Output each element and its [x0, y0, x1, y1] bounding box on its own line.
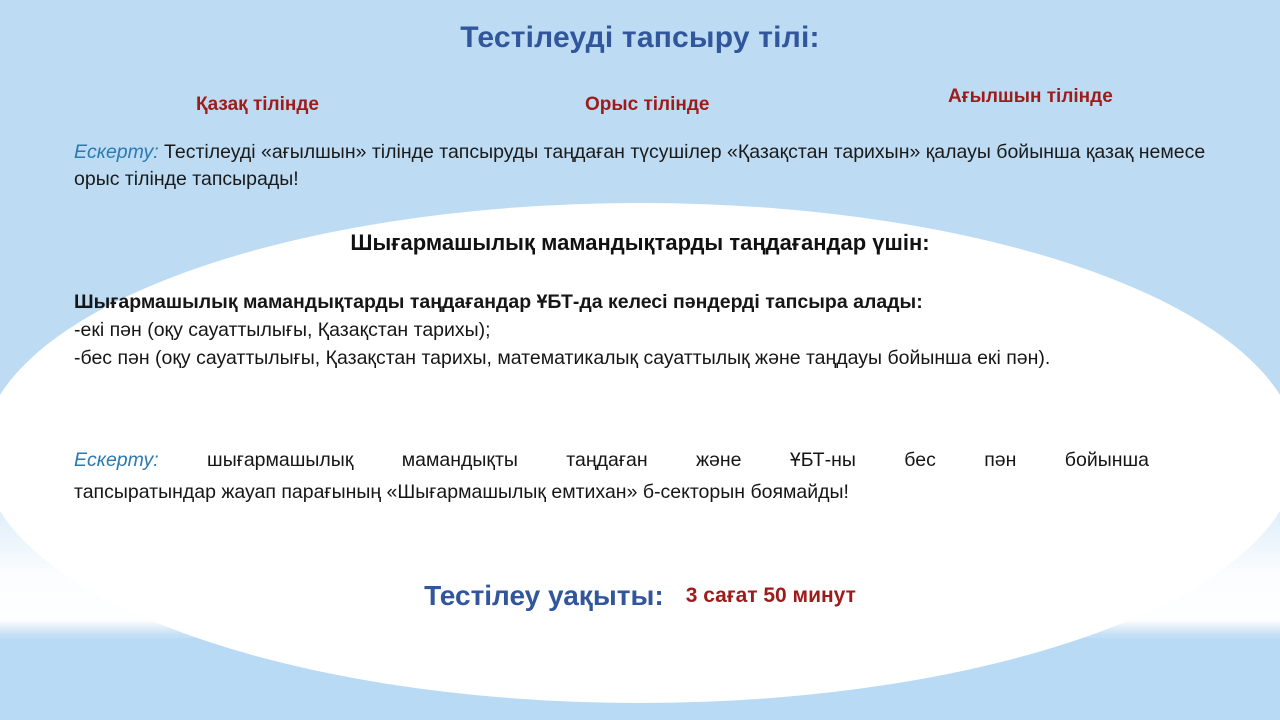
note-two-text-line-two: тапсыратындар жауап парағының «Шығармашы…	[74, 476, 1149, 508]
body-bullet-two-subjects: -екі пән (оқу сауаттылығы, Қазақстан тар…	[74, 316, 1244, 344]
body-paragraph: Шығармашылық мамандықтарды таңдағандар Ұ…	[74, 288, 1244, 372]
language-option-russian: Орыс тілінде	[585, 94, 710, 116]
slide-canvas: Тестілеуді тапсыру тілі: Қазақ тілінде О…	[0, 0, 1280, 720]
note-two-text-line-one: шығармашылық мамандықты таңдаған және ҰБ…	[159, 449, 1149, 471]
slide-content: Тестілеуді тапсыру тілі: Қазақ тілінде О…	[0, 0, 1280, 720]
body-lead-line: Шығармашылық мамандықтарды таңдағандар Ұ…	[74, 288, 1244, 316]
page-title: Тестілеуді тапсыру тілі:	[0, 21, 1280, 55]
testing-duration-row: Тестілеу уақыты:3 сағат 50 минут	[0, 580, 1280, 612]
body-bullet-five-subjects: -бес пән (оқу сауаттылығы, Қазақстан тар…	[74, 344, 1244, 372]
note-two-line-one: Ескерту: шығармашылық мамандықты таңдаға…	[74, 444, 1149, 476]
note-paragraph-two: Ескерту: шығармашылық мамандықты таңдаға…	[74, 444, 1149, 508]
note-label-two: Ескерту:	[74, 449, 159, 471]
language-option-english: Ағылшын тілінде	[948, 86, 1113, 108]
section-heading: Шығармашылық мамандықтарды таңдағандар ү…	[0, 230, 1280, 256]
language-option-kazakh: Қазақ тілінде	[196, 94, 319, 116]
note-label-one: Ескерту:	[74, 141, 159, 163]
testing-duration-value: 3 сағат 50 минут	[686, 584, 856, 607]
note-text-one: Тестілеуді «ағылшын» тілінде тапсыруды т…	[74, 141, 1205, 190]
testing-duration-label: Тестілеу уақыты:	[424, 580, 664, 611]
language-options-row: Қазақ тілінде Орыс тілінде Ағылшын тілін…	[0, 86, 1280, 120]
note-paragraph-one: Ескерту: Тестілеуді «ағылшын» тілінде та…	[74, 139, 1234, 193]
